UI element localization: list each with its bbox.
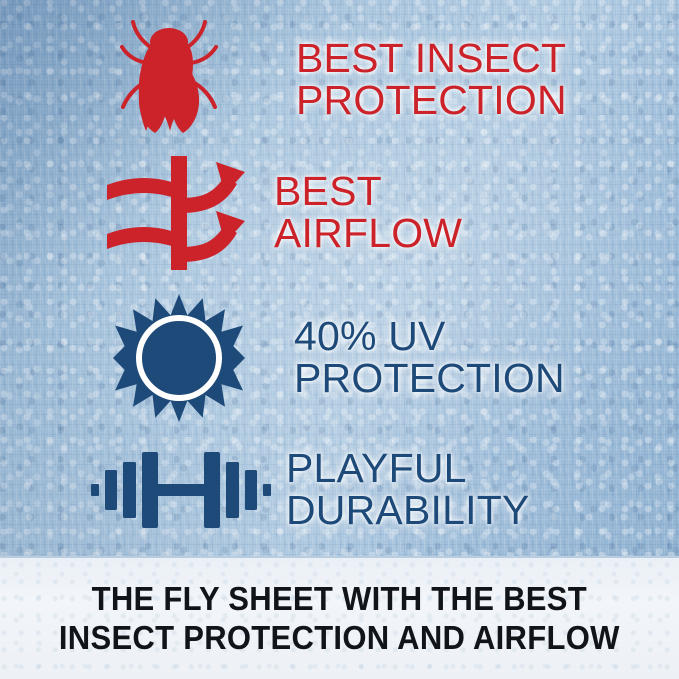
feature-row-insect-protection: BEST INSECT PROTECTION	[108, 16, 668, 144]
feature-label-durability: PLAYFUL DURABILITY	[286, 448, 530, 532]
feature-label-airflow: BEST AIRFLOW	[274, 171, 462, 255]
dumbbell-icon	[91, 446, 271, 534]
airflow-icon-container	[100, 154, 258, 272]
feature-row-durability: PLAYFUL DURABILITY	[86, 434, 676, 546]
feature-label-uv-protection: 40% UV PROTECTION	[294, 316, 565, 400]
feature-row-airflow: BEST AIRFLOW	[100, 152, 660, 274]
fly-icon	[113, 19, 225, 141]
sun-icon	[113, 292, 245, 424]
sun-icon-container	[104, 292, 254, 424]
airflow-arrows-icon	[103, 154, 255, 272]
feature-label-insect-protection: BEST INSECT PROTECTION	[296, 38, 567, 122]
dumbbell-icon-container	[86, 446, 276, 534]
bottom-banner: THE FLY SHEET WITH THE BEST INSECT PROTE…	[0, 556, 679, 679]
product-infographic-poster: BEST INSECT PROTECTION	[0, 0, 679, 679]
fly-icon-container	[108, 19, 230, 141]
feature-row-uv-protection: 40% UV PROTECTION	[104, 292, 664, 424]
banner-headline: THE FLY SHEET WITH THE BEST INSECT PROTE…	[59, 580, 620, 657]
feature-list: BEST INSECT PROTECTION	[0, 0, 679, 556]
